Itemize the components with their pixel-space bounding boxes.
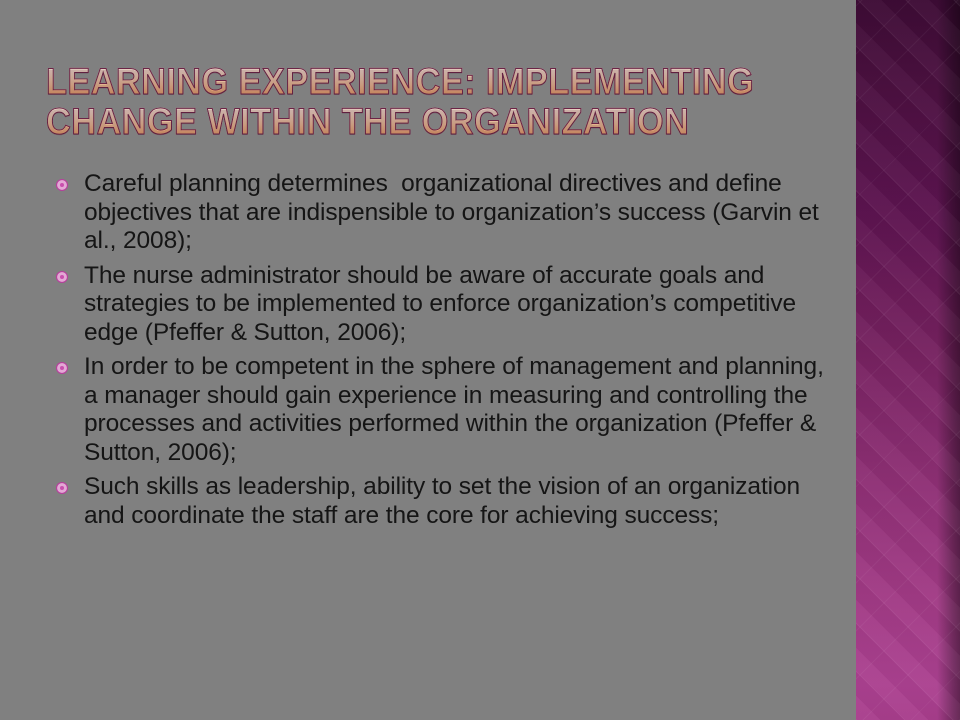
target-bullet-icon	[56, 482, 68, 494]
slide-title: Learning Experience: Implementing Change…	[46, 62, 836, 142]
bullet-text: Careful planning determines organization…	[84, 170, 838, 256]
list-item: Such skills as leadership, ability to se…	[56, 473, 838, 530]
bullet-text: In order to be competent in the sphere o…	[84, 353, 838, 467]
slide-title-line-1: Learning Experience: Implementing	[46, 62, 781, 102]
list-item: Careful planning determines organization…	[56, 170, 838, 256]
list-item: In order to be competent in the sphere o…	[56, 353, 838, 467]
bullet-list: Careful planning determines organization…	[56, 170, 838, 536]
slide-title-line-2: Change within the Organization	[46, 102, 781, 142]
bullet-text: The nurse administrator should be aware …	[84, 262, 838, 348]
target-bullet-icon	[56, 362, 68, 374]
bullet-text: Such skills as leadership, ability to se…	[84, 473, 838, 530]
list-item: The nurse administrator should be aware …	[56, 262, 838, 348]
target-bullet-icon	[56, 271, 68, 283]
side-decoration-panel	[856, 0, 960, 720]
presentation-slide: Learning Experience: Implementing Change…	[0, 0, 960, 720]
argyle-pattern-icon	[856, 0, 960, 720]
target-bullet-icon	[56, 179, 68, 191]
